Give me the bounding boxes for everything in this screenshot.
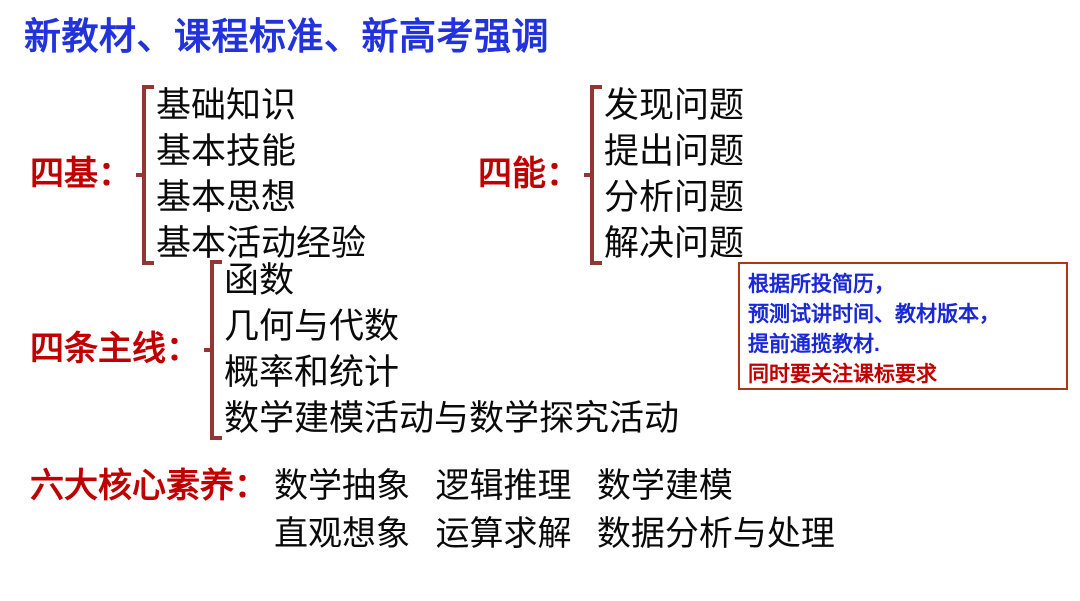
note-line: 同时要关注课标要求 (748, 360, 1066, 390)
list-item: 函数 (224, 258, 679, 304)
left-bracket-icon (204, 258, 220, 442)
core-literacies-lines: 数学抽象 逻辑推理 数学建模 直观想象 运算求解 数据分析与处理 (274, 462, 835, 558)
list-item: 基础知识 (156, 83, 366, 129)
core-literacy-item: 数学抽象 (274, 467, 410, 505)
page-title: 新教材、课程标准、新高考强调 (24, 14, 549, 60)
note-line: 预测试讲时间、教材版本， (748, 300, 1066, 330)
core-literacy-item: 数学建模 (597, 467, 733, 505)
group-items-si-ji: 基础知识 基本技能 基本思想 基本活动经验 (156, 83, 366, 267)
group-items-si-neng: 发现问题 提出问题 分析问题 解决问题 (604, 83, 744, 267)
core-literacy-item: 数据分析与处理 (597, 515, 835, 553)
core-literacy-item: 运算求解 (435, 515, 571, 553)
note-line: 提前通揽教材. (748, 330, 1066, 360)
core-literacy-item: 逻辑推理 (435, 467, 571, 505)
group-label-si-neng: 四能： (478, 156, 582, 193)
list-item: 基本技能 (156, 129, 366, 175)
group-core-literacies: 六大核心素养： 数学抽象 逻辑推理 数学建模 直观想象 运算求解 数据分析与处理 (30, 462, 835, 558)
group-label-si-ji: 四基： (30, 156, 134, 193)
left-bracket-icon (136, 83, 152, 267)
note-callout-box: 根据所投简历， 预测试讲时间、教材版本， 提前通揽教材. 同时要关注课标要求 (738, 262, 1068, 390)
core-literacy-item: 直观想象 (274, 515, 410, 553)
group-label-si-tiao-zhu-xian: 四条主线： (30, 331, 202, 368)
core-literacies-line-1: 数学抽象 逻辑推理 数学建模 (274, 462, 835, 510)
group-label-core-literacies: 六大核心素养： (30, 462, 274, 510)
core-literacies-line-2: 直观想象 运算求解 数据分析与处理 (274, 510, 835, 558)
note-line: 根据所投简历， (748, 270, 1066, 300)
list-item: 概率和统计 (224, 350, 679, 396)
list-item: 几何与代数 (224, 304, 679, 350)
group-si-tiao-zhu-xian: 四条主线： 函数 几何与代数 概率和统计 数学建模活动与数学探究活动 (30, 258, 679, 442)
slide-canvas: 新教材、课程标准、新高考强调 四基： 基础知识 基本技能 基本思想 基本活动经验… (0, 0, 1080, 601)
left-bracket-icon (584, 83, 600, 267)
list-item: 提出问题 (604, 129, 744, 175)
group-si-ji: 四基： 基础知识 基本技能 基本思想 基本活动经验 (30, 83, 366, 267)
group-items-si-tiao-zhu-xian: 函数 几何与代数 概率和统计 数学建模活动与数学探究活动 (224, 258, 679, 442)
list-item: 基本思想 (156, 175, 366, 221)
list-item: 数学建模活动与数学探究活动 (224, 396, 679, 442)
group-si-neng: 四能： 发现问题 提出问题 分析问题 解决问题 (478, 83, 744, 267)
list-item: 分析问题 (604, 175, 744, 221)
list-item: 发现问题 (604, 83, 744, 129)
